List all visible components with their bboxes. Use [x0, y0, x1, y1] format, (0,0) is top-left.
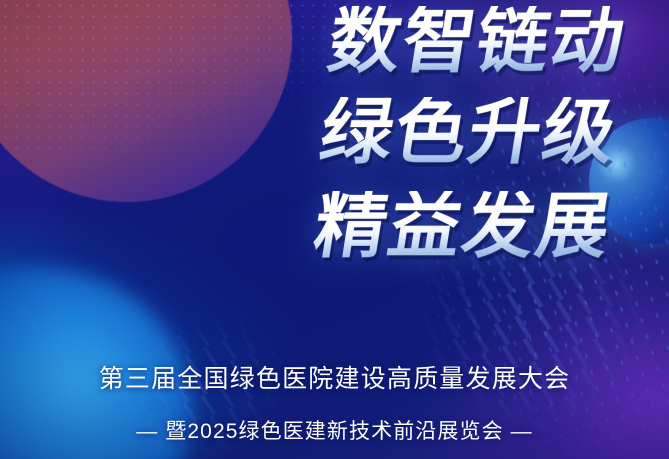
- headline-line-3: 精益发展: [309, 191, 616, 262]
- headline-block: 数智链动 绿色升级 精益发展: [315, 6, 629, 262]
- subtitle-block: 第三届全国绿色医院建设高质量发展大会 — 暨2025绿色医建新技术前沿展览会 —: [0, 359, 669, 445]
- exhibition-subtitle: — 暨2025绿色医建新技术前沿展览会 —: [0, 415, 669, 445]
- headline-line-1: 数智链动: [309, 6, 630, 77]
- conference-poster: 数智链动 绿色升级 精益发展 第三届全国绿色医院建设高质量发展大会 — 暨202…: [0, 0, 669, 459]
- conference-title: 第三届全国绿色医院建设高质量发展大会: [0, 359, 669, 395]
- headline-line-2: 绿色升级: [309, 97, 622, 168]
